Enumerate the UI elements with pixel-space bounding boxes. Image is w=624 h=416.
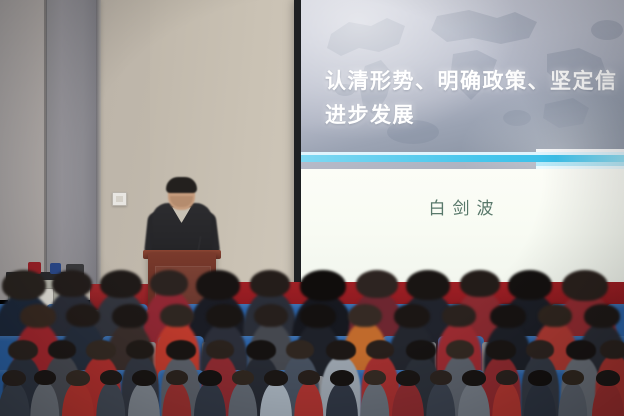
audience-member-head [396, 370, 420, 386]
audience-member-head [300, 270, 346, 301]
audience-member-torso [260, 382, 292, 416]
audience-member-head [2, 370, 26, 386]
audience-member-head [496, 370, 518, 385]
audience-member-head [250, 270, 290, 297]
audience-member-head [330, 370, 354, 386]
audience-member-head [442, 304, 476, 327]
audience-member-head [232, 370, 254, 385]
projection-screen: 认清形势、明确政策、坚定信 进步发展 白剑波 [301, 0, 624, 283]
audience-member-torso [194, 382, 226, 416]
audience-member-torso [392, 382, 424, 416]
audience-member [496, 370, 518, 416]
audience-member-head [406, 270, 450, 300]
slide-speaker-name: 白剑波 [301, 194, 624, 219]
audience-member [264, 370, 288, 416]
audience-member-head [462, 370, 486, 386]
audience-member-head [112, 304, 148, 328]
audience-member-head [150, 270, 188, 296]
audience-member-torso [228, 382, 257, 416]
audience-member-head [394, 304, 430, 328]
audience-member [232, 370, 254, 416]
audience-member [462, 370, 486, 416]
back-wall-left-section [0, 0, 48, 300]
audience-member-head [298, 370, 320, 385]
wall-light-switch[interactable] [112, 192, 127, 206]
audience-member-head [584, 304, 620, 328]
audience-member-head [508, 270, 552, 300]
audience-member [298, 370, 320, 416]
audience-member-head [364, 370, 386, 385]
audience-member-head [562, 370, 584, 385]
column-edge [96, 0, 101, 290]
audience-member-head [300, 304, 336, 328]
audience-member-head [100, 370, 122, 385]
audience-member-head [86, 340, 116, 360]
audience-member-head [254, 304, 288, 327]
audience-member-head [166, 340, 196, 360]
audience-member-head [8, 340, 38, 360]
structural-column [46, 0, 98, 290]
audience-member [396, 370, 420, 416]
audience-member-torso [592, 382, 624, 416]
audience-member-head [526, 340, 554, 359]
audience-member-head [66, 370, 90, 386]
audience-member-head [486, 340, 516, 360]
audience-member [166, 370, 188, 416]
audience-member-head [596, 370, 620, 386]
audience-member-head [196, 270, 240, 300]
audience-member-head [20, 304, 56, 328]
audience-member-head [198, 370, 222, 386]
audience-member-torso [326, 382, 358, 416]
audience-member-torso [360, 382, 389, 416]
audience-member-head [160, 304, 194, 327]
slide-title-line-2: 进步发展 [325, 98, 624, 132]
audience-member [66, 370, 90, 416]
audience-member [198, 370, 222, 416]
audience-member-head [430, 370, 452, 385]
slide-title-line-1: 认清形势、明确政策、坚定信 [325, 64, 624, 98]
audience-member-head [126, 340, 154, 359]
audience-member-head [2, 270, 46, 300]
audience-member-head [600, 340, 624, 359]
audience-member-head [538, 304, 572, 327]
audience-member-head [566, 340, 596, 360]
audience-member-head [166, 370, 188, 385]
audience-member [528, 370, 552, 416]
audience-member [34, 370, 56, 416]
audience-member [2, 370, 26, 416]
audience-member-head [366, 340, 394, 359]
audience-member-torso [524, 382, 556, 416]
audience-member-head [348, 304, 382, 327]
audience-member-torso [426, 382, 455, 416]
audience-member-head [100, 270, 142, 298]
audience-member-head [34, 370, 56, 385]
slide-title-block: 认清形势、明确政策、坚定信 进步发展 [325, 64, 624, 132]
audience-member-head [490, 304, 526, 328]
audience-member-head [528, 370, 552, 386]
presenter-hair [166, 177, 197, 193]
audience-member-head [132, 370, 156, 386]
audience-member-head [406, 340, 436, 360]
audience-member-head [48, 340, 76, 359]
audience-member-head [206, 304, 242, 328]
audience-member-torso [0, 382, 30, 416]
audience-member-torso [62, 382, 94, 416]
audience-member-head [52, 270, 92, 297]
audience-member-head [66, 304, 100, 327]
audience-member-head [206, 340, 234, 359]
audience-member [364, 370, 386, 416]
audience-member-head [326, 340, 356, 360]
audience-member-torso [128, 382, 160, 416]
audience-member-head [460, 270, 500, 297]
audience-member-torso [492, 382, 521, 416]
audience-member [330, 370, 354, 416]
audience-member-head [246, 340, 276, 360]
audience-member [430, 370, 452, 416]
audience-member [132, 370, 156, 416]
audience-member-head [356, 270, 398, 298]
audience-member-torso [294, 382, 323, 416]
audience [0, 258, 624, 416]
audience-member-head [286, 340, 314, 359]
lecture-hall-photo: 认清形势、明确政策、坚定信 进步发展 白剑波 [0, 0, 624, 416]
audience-member-head [446, 340, 474, 359]
audience-member-torso [30, 382, 59, 416]
audience-member [562, 370, 584, 416]
audience-member [100, 370, 122, 416]
audience-member-torso [162, 382, 191, 416]
audience-member [596, 370, 620, 416]
accent-band-cyan [301, 155, 624, 162]
audience-member-torso [458, 382, 490, 416]
audience-member-torso [558, 382, 587, 416]
audience-member-head [562, 270, 608, 301]
audience-member-torso [96, 382, 125, 416]
audience-member-head [264, 370, 288, 386]
wall-seam [44, 0, 47, 292]
